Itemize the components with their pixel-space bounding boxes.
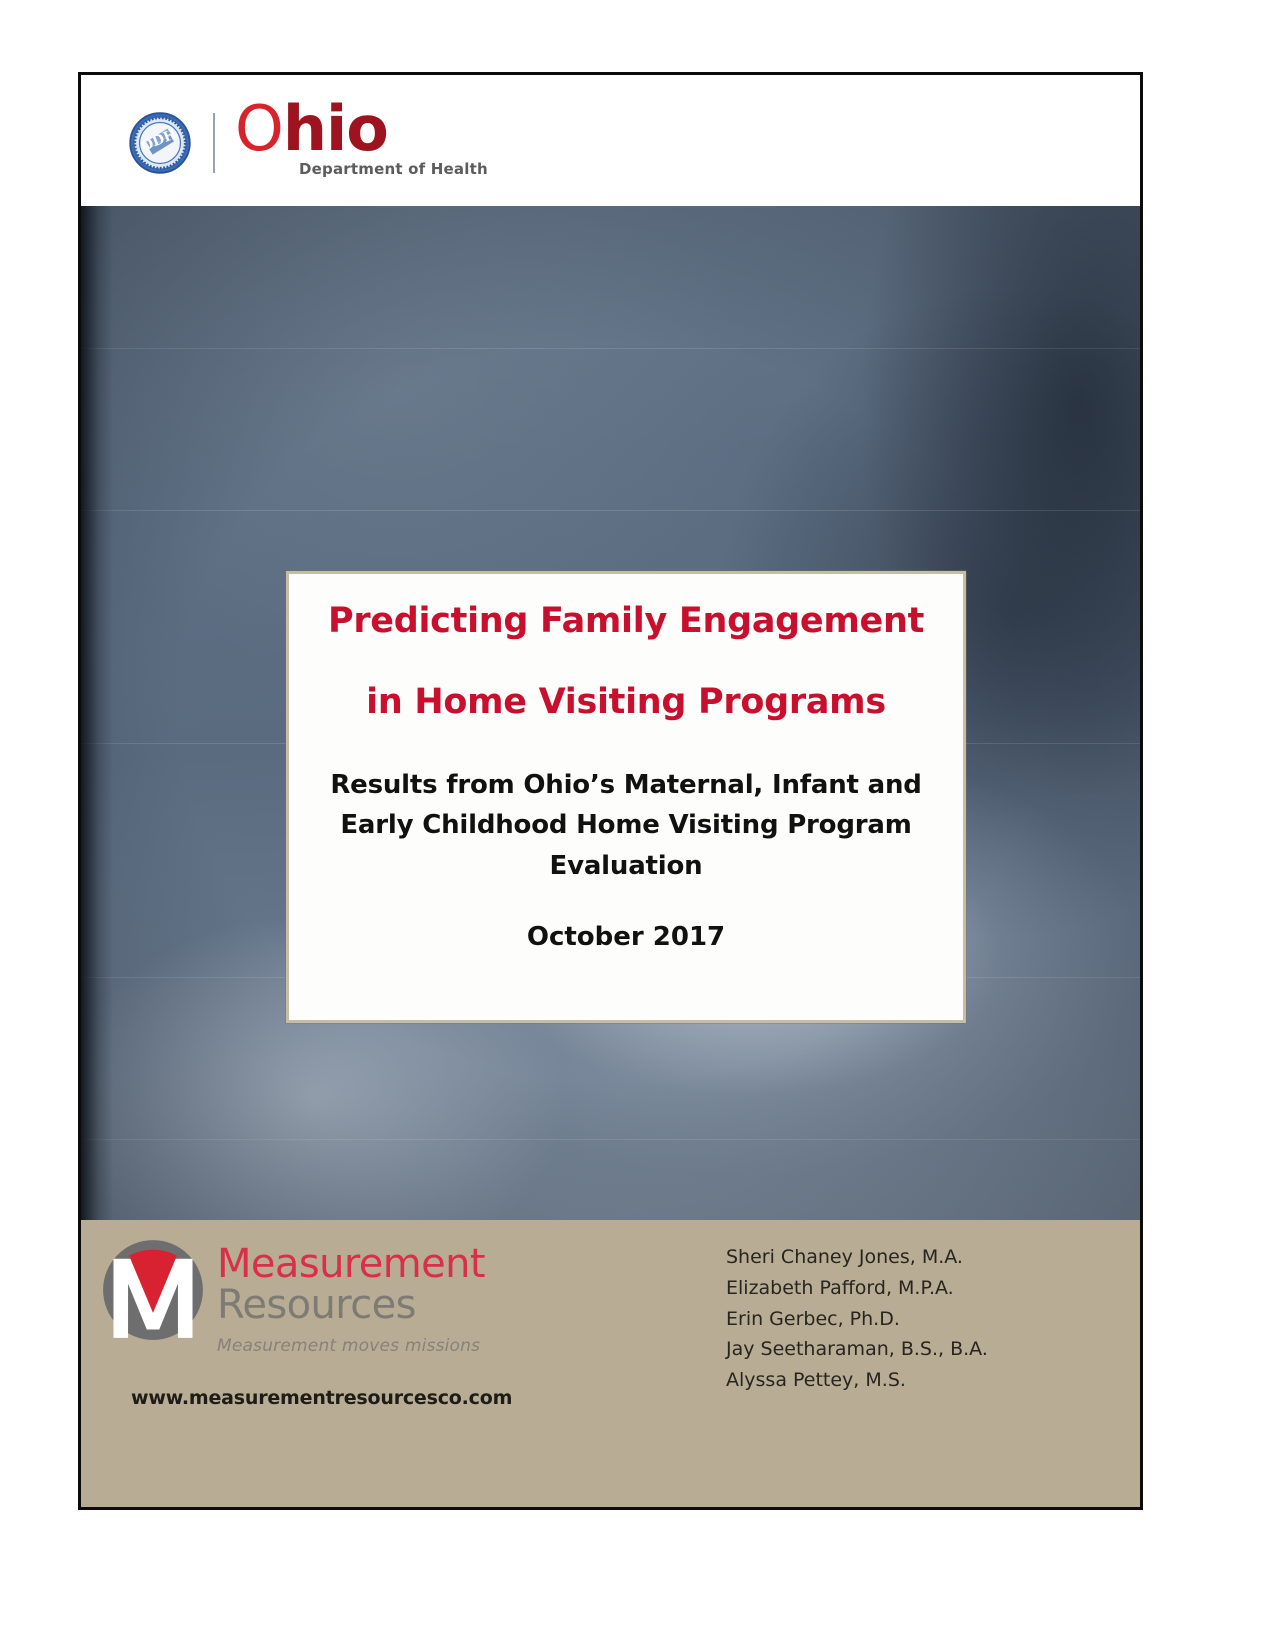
logo-name-line-2: Resources	[217, 1284, 485, 1326]
ohio-brand-text: Ohio	[235, 100, 488, 162]
list-item: Sheri Chaney Jones, M.A.	[726, 1242, 988, 1273]
ohio-state-seal-icon: ODH	[129, 112, 191, 174]
title-card: Predicting Family Engagement in Home Vis…	[286, 571, 966, 1023]
measurement-resources-wordmark: Measurement Resources Measurement moves …	[217, 1244, 485, 1356]
website-url[interactable]: www.measurementresourcesco.com	[131, 1387, 512, 1409]
report-subtitle-line-2: Early Childhood Home Visiting Program	[340, 810, 911, 840]
ohio-brand-subtitle: Department of Health	[299, 160, 488, 178]
document-page: ODH Ohio Department of Health Predicting…	[78, 72, 1143, 1510]
measurement-resources-m-logo-icon	[101, 1238, 205, 1342]
list-item: Alyssa Pettey, M.S.	[726, 1365, 988, 1396]
report-date: October 2017	[527, 922, 725, 952]
logo-name-line-1: Measurement	[217, 1244, 485, 1284]
report-title-line-2: in Home Visiting Programs	[328, 683, 924, 722]
list-item: Erin Gerbec, Ph.D.	[726, 1304, 988, 1335]
report-title: Predicting Family Engagement in Home Vis…	[328, 602, 924, 721]
list-item: Elizabeth Pafford, M.P.A.	[726, 1273, 988, 1304]
list-item: Jay Seetharaman, B.S., B.A.	[726, 1334, 988, 1365]
ohio-wordmark: Ohio Department of Health	[235, 100, 488, 182]
author-list: Sheri Chaney Jones, M.A. Elizabeth Paffo…	[726, 1242, 988, 1396]
header-divider-icon	[213, 113, 215, 173]
report-subtitle: Results from Ohio’s Maternal, Infant and…	[330, 765, 921, 886]
report-title-line-1: Predicting Family Engagement	[328, 601, 924, 641]
cover-photograph: Predicting Family Engagement in Home Vis…	[81, 206, 1140, 1220]
report-subtitle-line-3: Evaluation	[550, 851, 703, 881]
report-subtitle-line-1: Results from Ohio’s Maternal, Infant and	[330, 770, 921, 800]
logo-tagline: Measurement moves missions	[217, 1336, 485, 1356]
measurement-resources-logo: Measurement Resources Measurement moves …	[101, 1238, 485, 1356]
footer-band: Measurement Resources Measurement moves …	[81, 1220, 1140, 1507]
header-band: ODH Ohio Department of Health	[81, 75, 1140, 206]
